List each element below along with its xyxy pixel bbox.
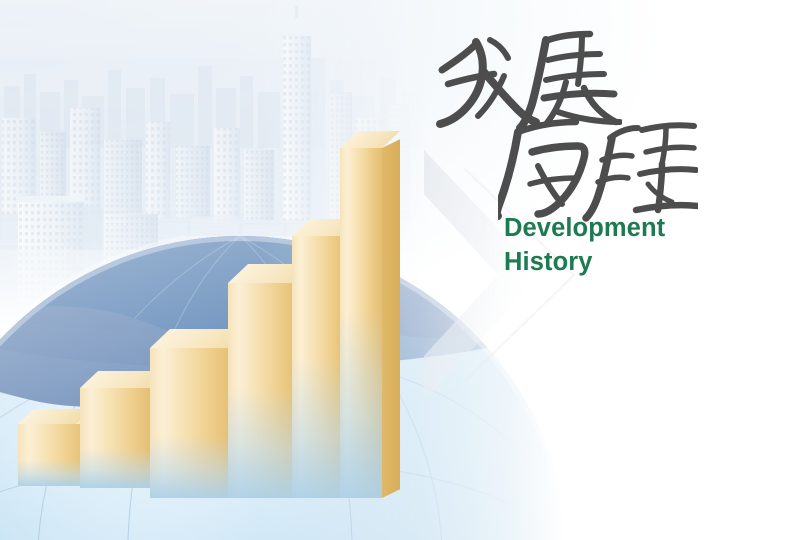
english-title: Development History	[504, 212, 665, 279]
calligraphy-line-2: 历程	[498, 118, 698, 222]
calligraphy-line-1: 发展	[432, 26, 622, 131]
bar-2	[80, 388, 152, 488]
bar-4-base-fade	[228, 388, 298, 498]
bar-5	[292, 236, 346, 498]
bar-3	[150, 348, 232, 498]
bar-5-base-fade	[292, 358, 346, 498]
bar-6	[340, 148, 382, 498]
bar-6-side-face	[382, 139, 400, 498]
bar-1-base-fade	[18, 460, 88, 486]
bar-1	[18, 424, 88, 486]
bar-2-base-fade	[80, 448, 152, 488]
bar-6-base-fade	[340, 313, 382, 498]
bar-3-base-fade	[150, 436, 232, 498]
chinese-calligraphy-title: 发展	[432, 26, 700, 216]
title-block: 发展	[432, 26, 762, 216]
development-history-banner: 发展	[0, 0, 800, 540]
bar-4	[228, 283, 298, 498]
